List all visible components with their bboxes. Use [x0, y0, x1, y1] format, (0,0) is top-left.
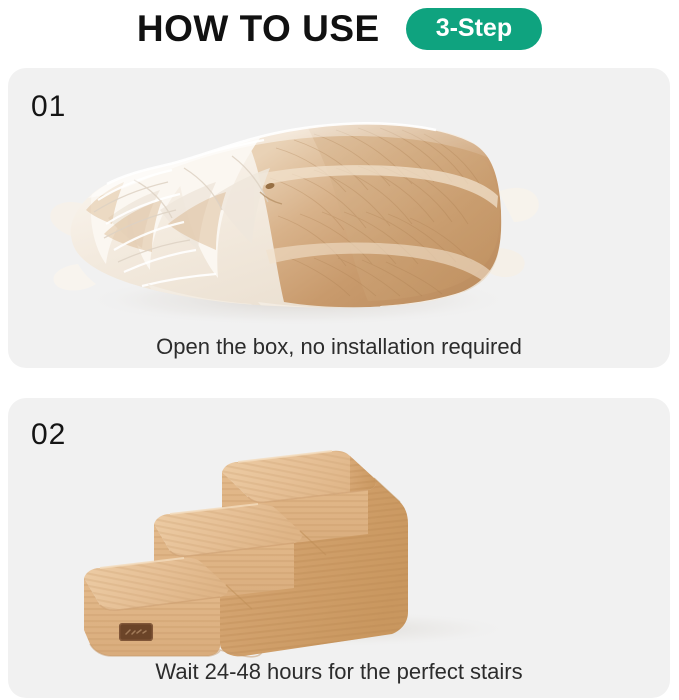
brand-label-tag	[119, 623, 153, 641]
step-number-label: 01	[31, 92, 66, 122]
step-card-01: 01	[8, 68, 670, 368]
step-caption: Open the box, no installation required	[8, 336, 670, 358]
step-card-02: 02	[8, 398, 670, 698]
pet-stairs-image	[8, 398, 670, 698]
step-number-label: 02	[31, 420, 66, 450]
page-title: HOW TO USE	[137, 10, 380, 47]
step-caption: Wait 24-48 hours for the perfect stairs	[8, 661, 670, 683]
vacuum-sealed-package-image	[8, 68, 670, 368]
step-count-badge: 3-Step	[406, 8, 542, 50]
page-header: HOW TO USE 3-Step	[0, 0, 679, 60]
